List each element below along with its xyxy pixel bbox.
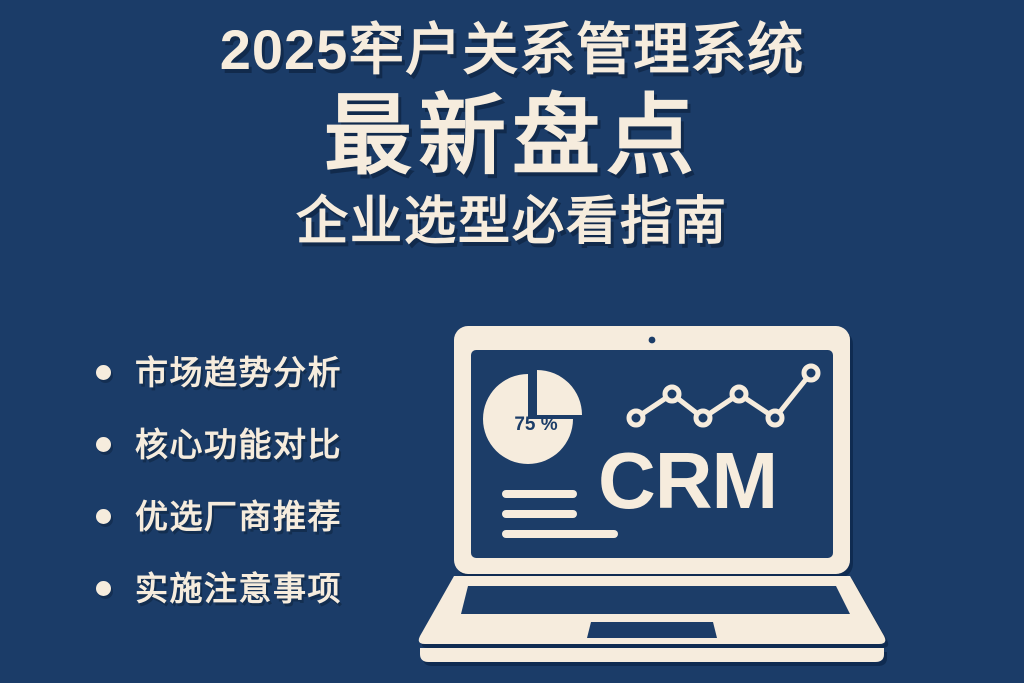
bullet-dot-icon: [96, 437, 111, 452]
bullet-dot-icon: [96, 581, 111, 596]
line-chart-point: [665, 387, 679, 401]
webcam-icon: [649, 337, 656, 344]
list-item: 优选厂商推荐: [96, 482, 416, 550]
text-bar: [502, 510, 577, 518]
bullet-label: 实施注意事项: [135, 572, 342, 605]
trackpad: [587, 622, 717, 638]
line-chart-point: [768, 411, 782, 425]
feature-bullet-list: 市场趋势分析 核心功能对比 优选厂商推荐 实施注意事项: [96, 338, 416, 626]
laptop-illustration: 75 %: [398, 318, 906, 670]
line-chart-point: [804, 366, 818, 380]
bullet-dot-icon: [96, 509, 111, 524]
headline-block: 2025窂户关系管理系统 最新盘点 企业选型必看指南: [0, 0, 1024, 248]
bullet-label: 优选厂商推荐: [135, 500, 342, 533]
poster-canvas: 2025窂户关系管理系统 最新盘点 企业选型必看指南 市场趋势分析 核心功能对比…: [0, 0, 1024, 683]
screen-wordmark: CRM: [598, 436, 777, 525]
list-item: 实施注意事项: [96, 554, 416, 622]
keyboard-cutout: [461, 586, 850, 614]
text-bar: [502, 530, 618, 538]
line-chart-point: [629, 411, 643, 425]
text-bar: [502, 490, 577, 498]
line-chart-point: [696, 411, 710, 425]
bullet-label: 核心功能对比: [135, 428, 342, 461]
bullet-dot-icon: [96, 365, 111, 380]
headline-line-2: 最新盘点: [0, 92, 1024, 180]
headline-line-1: 2025窂户关系管理系统: [0, 22, 1024, 78]
laptop-bottom-lip: [420, 648, 884, 662]
list-item: 市场趋势分析: [96, 338, 416, 406]
line-chart-point: [732, 387, 746, 401]
bullet-label: 市场趋势分析: [135, 356, 342, 389]
list-item: 核心功能对比: [96, 410, 416, 478]
pie-value-label: 75 %: [514, 414, 557, 435]
headline-line-3: 企业选型必看指南: [0, 196, 1024, 248]
